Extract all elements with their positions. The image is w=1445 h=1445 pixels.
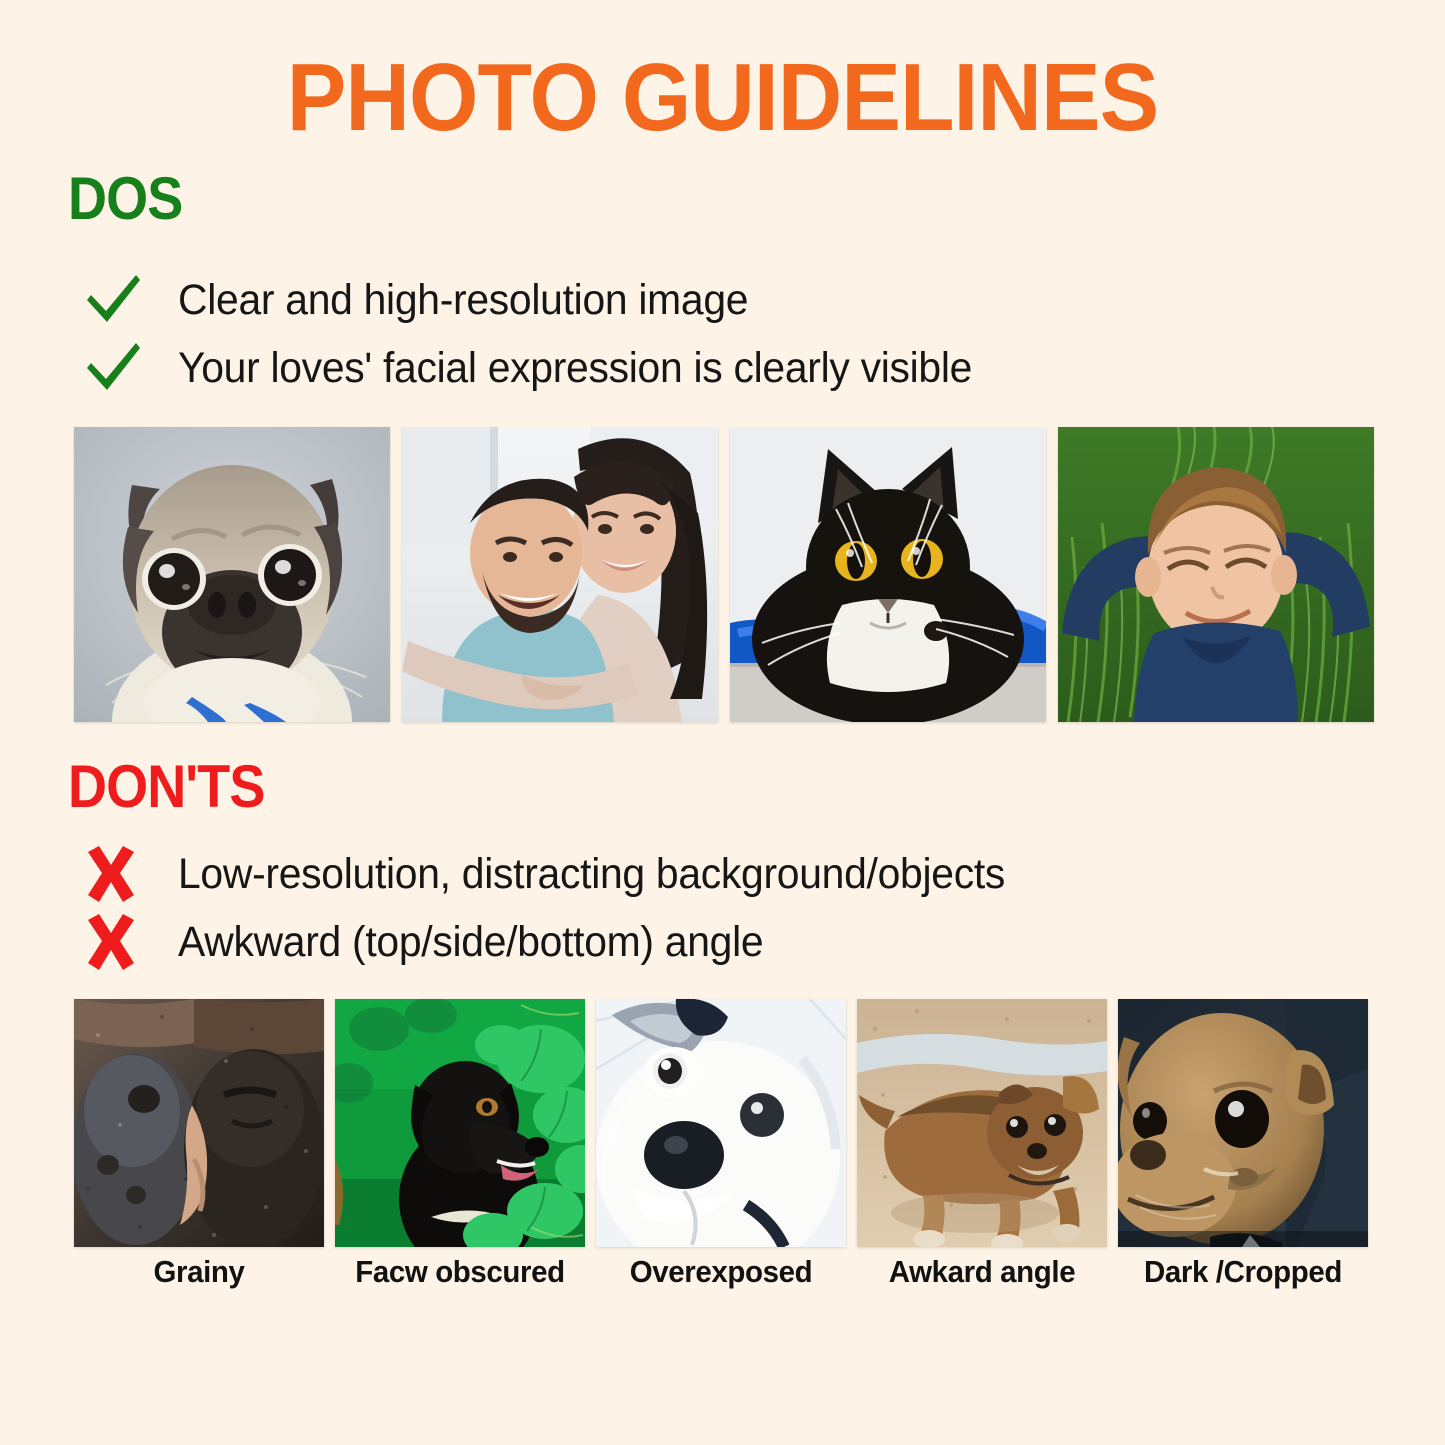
dos-bullet-item-2: Your loves' facial expression is clearly… [68, 334, 1014, 402]
dos-bullet-list: Clear and high-resolution image Your lov… [68, 266, 1014, 402]
donts-bullet-item-2: Awkward (top/side/bottom) angle [68, 908, 1049, 976]
page-title: PHOTO GUIDELINES [51, 48, 1395, 148]
donts-photo-dark-cropped [1118, 999, 1368, 1247]
dos-heading: DOS [68, 168, 182, 230]
dos-photo-pug-puppy [74, 427, 390, 722]
donts-heading: DON'TS [68, 756, 264, 818]
donts-photo-awkward-angle [857, 999, 1107, 1247]
caption-dark-cropped: Dark /Cropped [1124, 1252, 1362, 1292]
donts-photo-grainy [74, 999, 324, 1247]
dos-bullet-text-2: Your loves' facial expression is clearly… [178, 342, 972, 394]
donts-bullet-list: Low-resolution, distracting background/o… [68, 840, 1049, 976]
donts-bullet-text-1: Low-resolution, distracting background/o… [178, 848, 1005, 900]
cross-icon [68, 914, 178, 970]
dos-photo-smiling-couple [402, 427, 718, 722]
donts-photo-face-obscured [335, 999, 585, 1247]
donts-bullet-text-2: Awkward (top/side/bottom) angle [178, 916, 763, 968]
dos-photo-row [74, 427, 1374, 722]
dos-bullet-text-1: Clear and high-resolution image [178, 274, 748, 326]
donts-photo-row [74, 999, 1368, 1247]
dos-bullet-item-1: Clear and high-resolution image [68, 266, 1014, 334]
caption-face-obscured: Facw obscured [341, 1252, 579, 1292]
check-icon [68, 339, 178, 397]
donts-photo-overexposed [596, 999, 846, 1247]
check-icon [68, 271, 178, 329]
caption-awkward-angle: Awkard angle [863, 1252, 1101, 1292]
photo-guidelines-page: PHOTO GUIDELINES DOS Clear and high-reso… [0, 0, 1445, 1445]
donts-caption-row: Grainy Facw obscured Overexposed Awkard … [74, 1252, 1368, 1292]
cross-icon [68, 846, 178, 902]
donts-bullet-item-1: Low-resolution, distracting background/o… [68, 840, 1049, 908]
dos-photo-tuxedo-cat [730, 427, 1046, 722]
caption-grainy: Grainy [80, 1252, 318, 1292]
dos-photo-boy-in-grass [1058, 427, 1374, 722]
caption-overexposed: Overexposed [602, 1252, 840, 1292]
